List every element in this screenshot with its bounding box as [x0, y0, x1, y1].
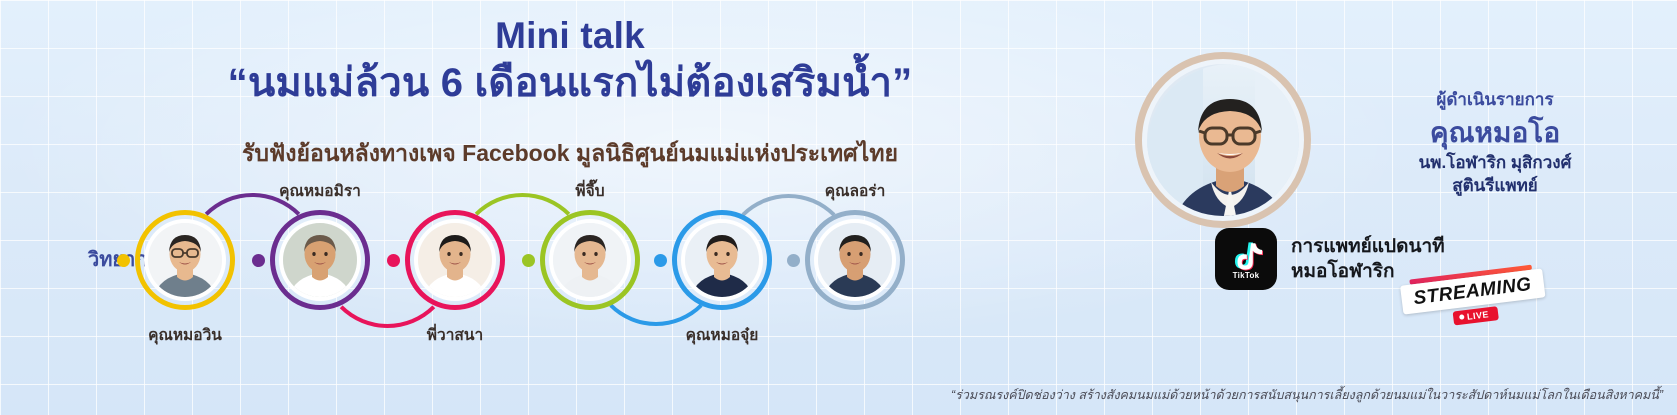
host-nickname: คุณหมอโอ: [1325, 115, 1665, 151]
speaker-avatar[interactable]: [681, 219, 763, 301]
tiktok-note-glyph: [1229, 239, 1263, 273]
speaker-node[interactable]: [805, 210, 905, 310]
speaker-avatar[interactable]: [814, 219, 896, 301]
speaker-name-label: คุณหมอจุ๋ย: [642, 322, 802, 347]
live-dot-icon: [1459, 314, 1465, 320]
host-specialty: สูตินรีแพทย์: [1325, 174, 1665, 197]
speaker-connector-dot: [654, 254, 667, 267]
speaker-avatar[interactable]: [549, 219, 631, 301]
speaker-name-label: คุณหมอวิน: [105, 322, 265, 347]
channel-name: การแพทย์แปดนาที หมอโอฬาริก: [1291, 234, 1445, 284]
speaker-portrait-illustration: [418, 223, 492, 297]
speaker-avatar[interactable]: [144, 219, 226, 301]
speaker-connector-dot: [117, 254, 130, 267]
host-portrait-illustration: [1147, 64, 1299, 216]
host-full-name: นพ.โอฬาริก มุสิกวงศ์: [1325, 151, 1665, 174]
speaker-avatar[interactable]: [414, 219, 496, 301]
speaker-node[interactable]: [540, 210, 640, 310]
host-avatar: [1135, 52, 1311, 228]
live-label: LIVE: [1466, 309, 1489, 322]
speaker-name-label: คุณลอร่า: [775, 178, 935, 203]
speaker-portrait-illustration: [283, 223, 357, 297]
channel-name-line-1: การแพทย์แปดนาที: [1291, 234, 1445, 259]
speaker-connector-dot: [387, 254, 400, 267]
speaker-name-label: คุณหมอมิรา: [240, 178, 400, 203]
speaker-node[interactable]: [135, 210, 235, 310]
speaker-connector-dot: [522, 254, 535, 267]
speaker-name-label: พี่จี๊บ: [510, 178, 670, 203]
speaker-connector-dot: [787, 254, 800, 267]
speaker-portrait-illustration: [553, 223, 627, 297]
speaker-node[interactable]: [270, 210, 370, 310]
title-line-1: Mini talk: [0, 14, 1140, 58]
host-text-block: ผู้ดำเนินรายการ คุณหมอโอ นพ.โอฬาริก มุสิ…: [1325, 86, 1665, 197]
page-subtitle: รับฟังย้อนหลังทางเพจ Facebook มูลนิธิศูน…: [0, 136, 1140, 172]
host-avatar-photo: [1147, 64, 1299, 216]
title-line-2: “นมแม่ล้วน 6 เดือนแรกไม่ต้องเสริมน้ำ”: [0, 58, 1140, 108]
poster-canvas: Mini talk “นมแม่ล้วน 6 เดือนแรกไม่ต้องเส…: [0, 0, 1677, 415]
speaker-portrait-illustration: [818, 223, 892, 297]
speaker-name-label: พี่วาสนา: [375, 322, 535, 347]
host-role-label: ผู้ดำเนินรายการ: [1325, 86, 1665, 113]
page-title: Mini talk “นมแม่ล้วน 6 เดือนแรกไม่ต้องเส…: [0, 14, 1140, 108]
tiktok-icon[interactable]: TikTok: [1215, 228, 1277, 290]
speakers-row: คุณหมอวินคุณหมอมิราพี่วาสนาพี่จี๊บคุณหมอ…: [0, 180, 1060, 340]
speaker-connector-dot: [252, 254, 265, 267]
speaker-portrait-illustration: [148, 223, 222, 297]
speaker-avatar[interactable]: [279, 219, 361, 301]
live-badge: LIVE: [1452, 306, 1498, 325]
footnote: “ร่วมรณรงค์ปิดช่องว่าง สร้างสังคมนมแม่ด้…: [0, 385, 1663, 405]
speaker-portrait-illustration: [685, 223, 759, 297]
speaker-node[interactable]: [405, 210, 505, 310]
speaker-node[interactable]: [672, 210, 772, 310]
